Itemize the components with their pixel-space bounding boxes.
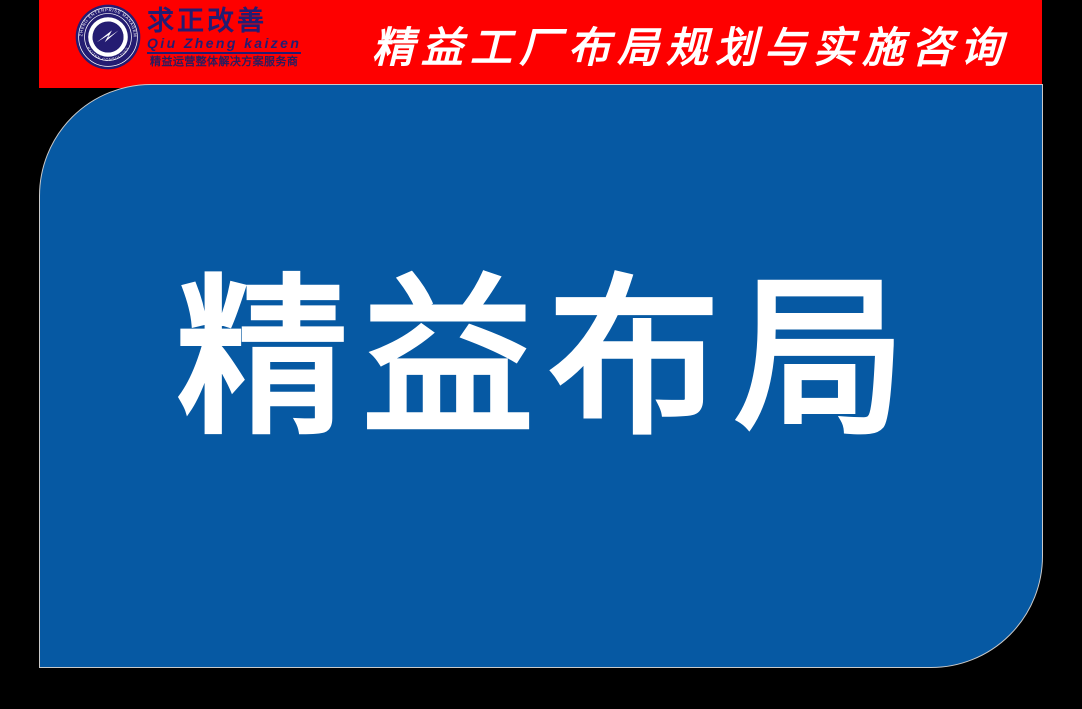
presentation-slide: QIU ZHENG ENTERPRISE MANAGEMENT KAIZEN C… bbox=[0, 0, 1082, 709]
banner-headline: 精益工厂布局规划与实施咨询 bbox=[339, 0, 1042, 88]
company-seal-icon: QIU ZHENG ENTERPRISE MANAGEMENT KAIZEN C… bbox=[75, 4, 141, 70]
content-panel: 精益布局 bbox=[39, 84, 1043, 668]
header-banner: QIU ZHENG ENTERPRISE MANAGEMENT KAIZEN C… bbox=[39, 0, 1042, 88]
company-name-pinyin: Qiu Zheng kaizen bbox=[147, 35, 301, 54]
company-tagline: 精益运营整体解决方案服务商 bbox=[147, 54, 301, 69]
company-logo-lockup: QIU ZHENG ENTERPRISE MANAGEMENT KAIZEN C… bbox=[75, 4, 301, 70]
company-wordmark: 求正改善 Qiu Zheng kaizen 精益运营整体解决方案服务商 bbox=[147, 5, 301, 69]
slide-title: 精益布局 bbox=[162, 273, 920, 445]
company-name-cn: 求正改善 bbox=[147, 8, 301, 36]
